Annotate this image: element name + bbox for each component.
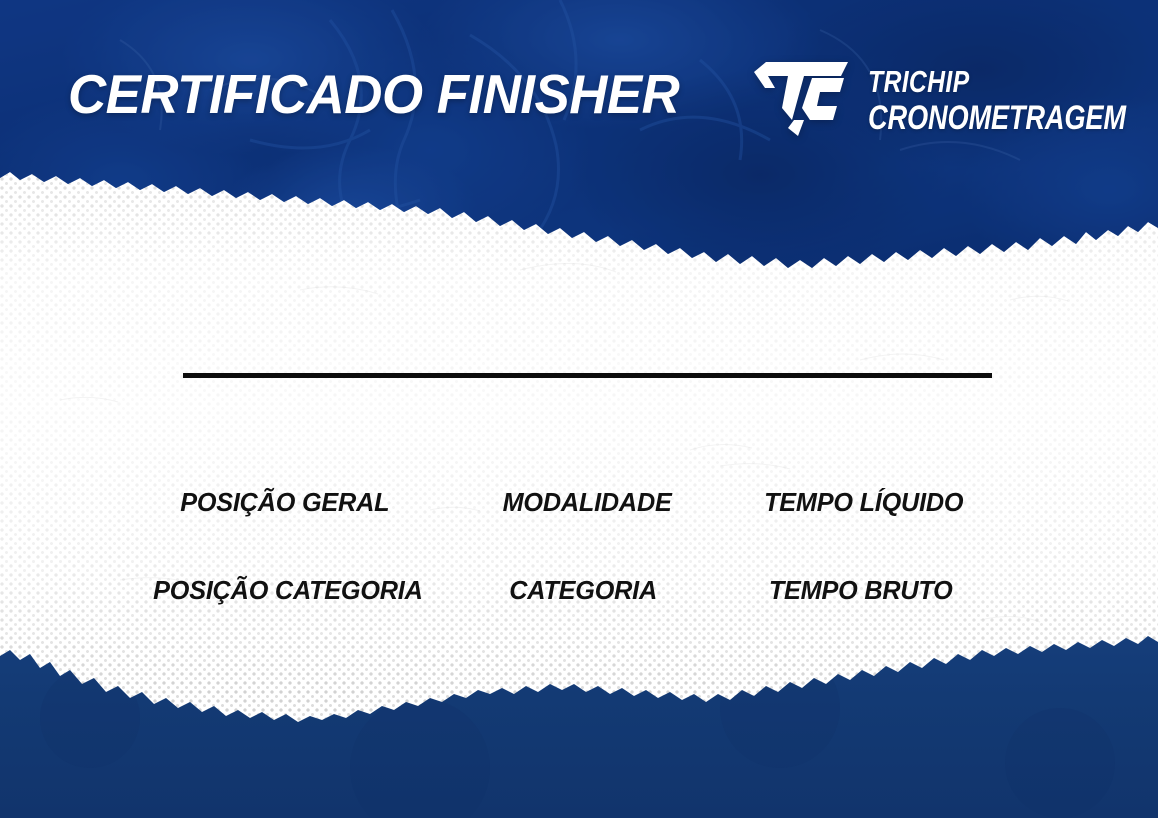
brand-wordmark: TRICHIP CRONOMETRAGEM	[868, 64, 1158, 135]
brand-name-secondary: CRONOMETRAGEM	[868, 101, 1126, 135]
field-label-modalidade: MODALIDADE	[503, 487, 672, 518]
certificate-page: CERTIFICADO FINISHER TRICHIP CRONOMETRAG…	[0, 0, 1158, 818]
participant-name-line	[183, 373, 992, 378]
field-label-posicao-geral: POSIÇÃO GERAL	[180, 487, 389, 518]
brand-logo: TRICHIP CRONOMETRAGEM	[752, 58, 1158, 140]
field-label-tempo-bruto: TEMPO BRUTO	[769, 575, 953, 606]
brand-name-primary: TRICHIP	[868, 66, 1126, 97]
field-label-categoria: CATEGORIA	[509, 575, 657, 606]
field-label-tempo-liquido: TEMPO LÍQUIDO	[764, 487, 963, 518]
field-label-posicao-categoria: POSIÇÃO CATEGORIA	[153, 575, 422, 606]
page-title: CERTIFICADO FINISHER	[68, 63, 679, 125]
field-row: POSIÇÃO GERAL MODALIDADE TEMPO LÍQUIDO	[0, 470, 1158, 558]
tc-monogram-icon	[752, 58, 856, 140]
result-fields: POSIÇÃO GERAL MODALIDADE TEMPO LÍQUIDO P…	[0, 470, 1158, 646]
field-row: POSIÇÃO CATEGORIA CATEGORIA TEMPO BRUTO	[0, 558, 1158, 646]
